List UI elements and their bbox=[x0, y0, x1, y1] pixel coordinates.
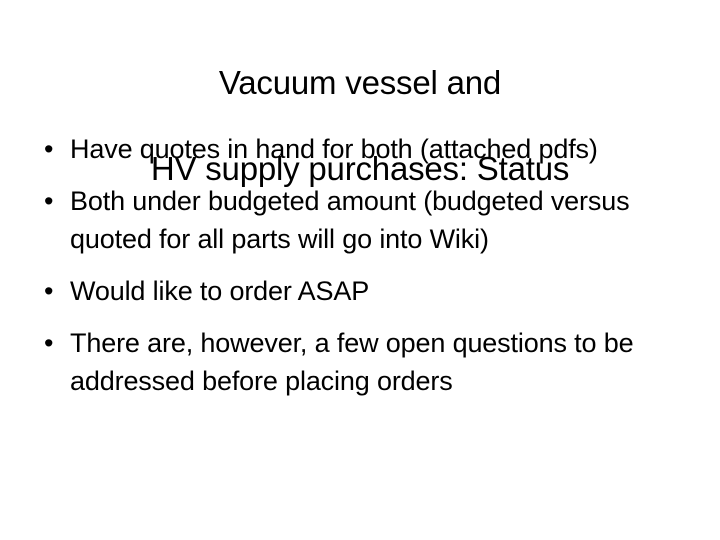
bullet-item: • Have quotes in hand for both (attached… bbox=[36, 130, 684, 168]
bullet-dot-icon: • bbox=[44, 130, 62, 168]
presentation-slide: Vacuum vessel and HV supply purchases: S… bbox=[0, 0, 720, 540]
slide-title-line-1: Vacuum vessel and bbox=[36, 61, 684, 104]
bullet-item: • Both under budgeted amount (budgeted v… bbox=[36, 182, 684, 258]
bullet-item-label: Would like to order ASAP bbox=[70, 272, 684, 310]
bullet-dot-icon: • bbox=[44, 182, 62, 220]
bullet-item-label: Have quotes in hand for both (attached p… bbox=[70, 130, 684, 168]
bullet-dot-icon: • bbox=[44, 324, 62, 362]
slide-body-bullet-list: • Have quotes in hand for both (attached… bbox=[36, 130, 684, 400]
bullet-item-label: Both under budgeted amount (budgeted ver… bbox=[70, 182, 684, 258]
bullet-item-label: There are, however, a few open questions… bbox=[70, 324, 684, 400]
bullet-dot-icon: • bbox=[44, 272, 62, 310]
bullet-item: • There are, however, a few open questio… bbox=[36, 324, 684, 400]
bullet-item: • Would like to order ASAP bbox=[36, 272, 684, 310]
